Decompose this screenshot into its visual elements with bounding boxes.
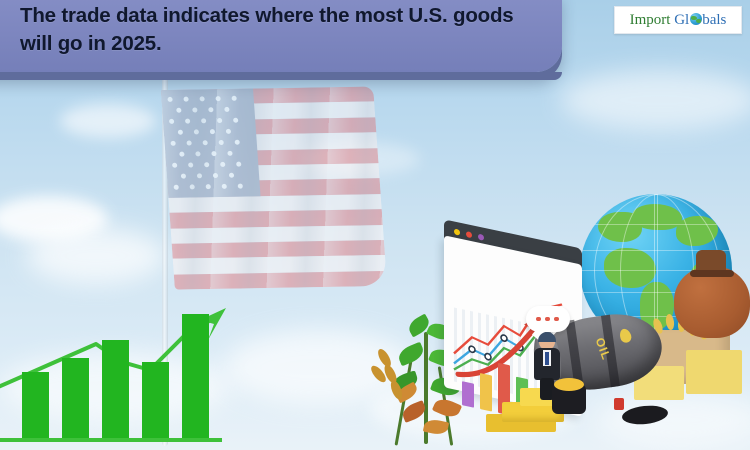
chart-baseline (0, 438, 222, 442)
logo-word-import: Import (630, 12, 671, 28)
barrel-valve (614, 398, 624, 410)
flag-union (161, 88, 261, 197)
oil-spill (621, 404, 669, 427)
titlebar-dot-red (466, 231, 472, 238)
logo-word-gl: Gl (674, 12, 689, 28)
chart-bar (102, 340, 129, 438)
united-states-flag (130, 82, 380, 312)
leaf (396, 342, 426, 367)
titlebar-dot-yellow (454, 228, 460, 235)
envelope-box (686, 350, 742, 394)
mini-bar (480, 373, 492, 412)
speech-bubble-icon (526, 306, 570, 332)
money-sack-tie (690, 270, 734, 277)
global-trade-isometric-scene: OIL (438, 188, 750, 450)
chart-bar (62, 358, 89, 438)
money-sack (674, 266, 750, 338)
chart-bar (22, 372, 49, 438)
headline-banner: The trade data indicates where the most … (0, 0, 562, 72)
chart-bar (142, 362, 169, 438)
hero-banner-image: OIL The trade data indicates where the m… (0, 0, 750, 450)
brand-logo[interactable]: Import Glbals (614, 6, 742, 34)
gold-coin (554, 378, 584, 391)
page-title: The trade data indicates where the most … (20, 2, 544, 58)
logo-text: Import Glbals (630, 12, 727, 29)
growth-bar-chart (0, 300, 236, 450)
headline-line-1: The trade data indicates where the most … (20, 2, 544, 30)
cloud-decoration (560, 70, 750, 130)
figure-hair (538, 332, 556, 342)
figure-tie (545, 352, 549, 365)
chart-bar (182, 314, 209, 438)
flag-cloth (161, 86, 387, 289)
globe-icon (690, 13, 702, 25)
logo-word-bals: bals (702, 12, 726, 28)
headline-line-2: will go in 2025. (20, 30, 544, 58)
mini-bar (462, 381, 474, 408)
titlebar-dot-purple (478, 234, 484, 241)
oil-drop-icon (618, 327, 633, 344)
